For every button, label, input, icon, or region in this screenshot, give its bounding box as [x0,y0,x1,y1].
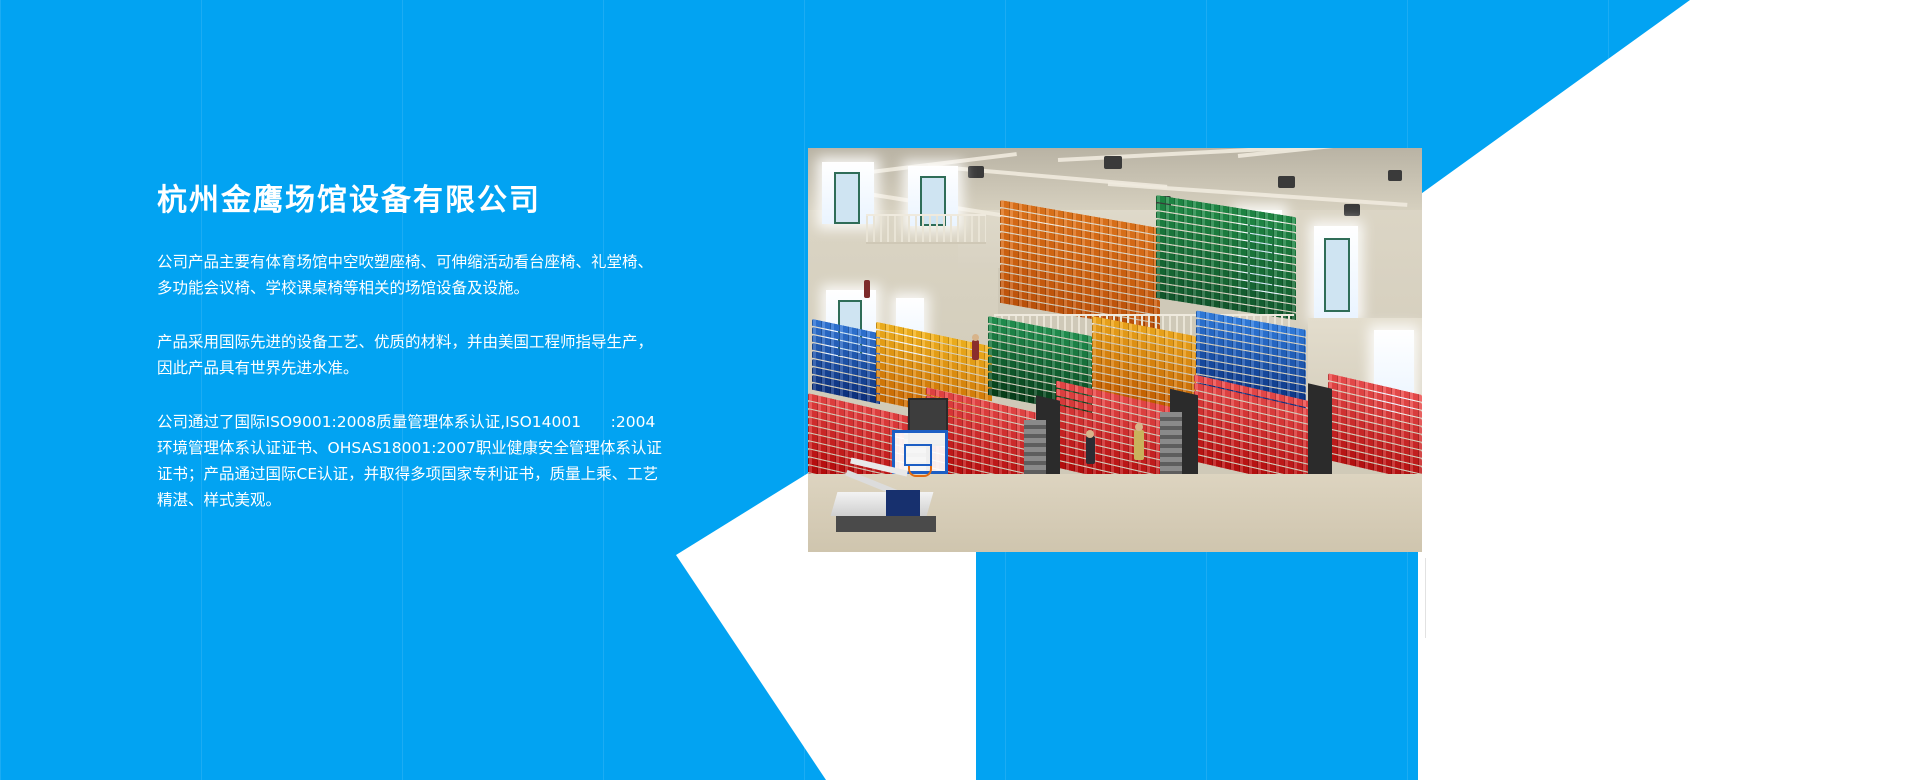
ceiling-light [1388,170,1402,181]
ceiling-light [1344,204,1360,216]
panel-divider [1425,558,1426,638]
hero-paragraph-2: 产品采用国际先进的设备工艺、优质的材料，并由美国工程师指导生产，因此产品具有世界… [157,329,662,381]
hero-text-column: 杭州金鹰场馆设备有限公司 公司产品主要有体育场馆中空吹塑座椅、可伸缩活动看台座椅… [157,183,677,513]
page-title: 杭州金鹰场馆设备有限公司 [157,183,677,219]
person-head [972,334,979,341]
person [864,280,870,298]
ceiling-light [1278,176,1295,188]
hero-paragraph-3: 公司通过了国际ISO9001:2008质量管理体系认证,ISO14001 :20… [157,409,662,513]
person [972,340,979,360]
person [1134,430,1144,460]
person [1086,436,1095,464]
window-frame [1324,238,1350,312]
seat-block-green-upper [1156,195,1296,327]
basketball-hoop [834,430,954,540]
hero-paragraph-1: 公司产品主要有体育场馆中空吹塑座椅、可伸缩活动看台座椅、礼堂椅、多功能会议椅、学… [157,249,662,301]
person-head [1135,423,1143,431]
ceiling-light [1104,156,1122,169]
hero-banner: 杭州金鹰场馆设备有限公司 公司产品主要有体育场馆中空吹塑座椅、可伸缩活动看台座椅… [0,0,1920,780]
person-head [1086,430,1094,438]
window-frame [834,172,860,224]
ceiling-light [968,166,984,178]
arena-photo [808,148,1422,552]
balcony-railing [866,214,986,244]
